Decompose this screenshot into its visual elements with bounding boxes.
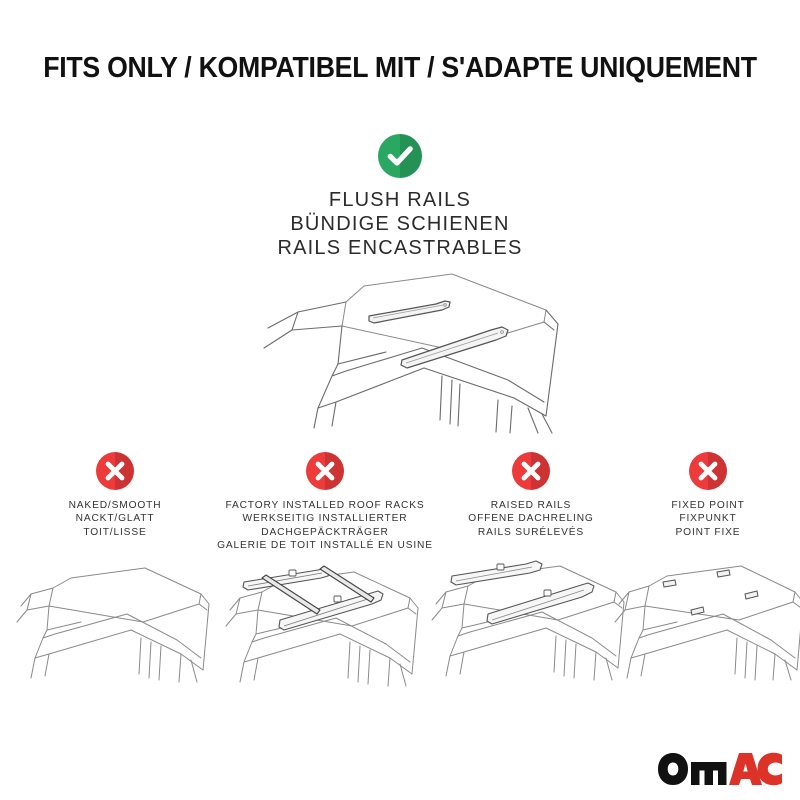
car-roof-raised-rails-illustration	[428, 554, 634, 682]
check-circle-icon	[378, 134, 422, 178]
x-mark-glyph	[306, 452, 344, 490]
car-roof-factory-racks-illustration	[222, 564, 428, 688]
option-label-line-2: NACKT/GLATT	[25, 512, 205, 525]
x-circle-icon	[689, 452, 727, 490]
option-label-line-1: RAISED RAILS	[443, 499, 619, 512]
option-label: FIXED POINT FIXPUNKT POINT FIXE	[623, 499, 793, 539]
fitment-infographic: FITS ONLY / KOMPATIBEL MIT / S'ADAPTE UN…	[0, 0, 800, 800]
car-roof-flush-rails-illustration	[246, 268, 566, 433]
omac-logo: OMAC	[657, 752, 783, 786]
option-label: NAKED/SMOOTH NACKT/GLATT TOIT/LISSE	[25, 499, 205, 539]
incompatible-option-factory-racks: FACTORY INSTALLED ROOF RACKS WERKSEITIG …	[209, 452, 441, 552]
incompatible-option-raised-rails: RAISED RAILS OFFENE DACHRELING RAILS SUR…	[443, 452, 619, 539]
compatible-label-line-1: FLUSH RAILS	[0, 188, 800, 212]
x-circle-icon	[306, 452, 344, 490]
option-label-line-4: GALERIE DE TOIT INSTALLÉ EN USINE	[209, 539, 441, 552]
option-label-line-1: FACTORY INSTALLED ROOF RACKS	[209, 499, 441, 512]
x-mark-glyph	[689, 452, 727, 490]
option-label-line-3: RAILS SURÉLEVÉS	[443, 526, 619, 539]
option-label-line-3: DACHGEPÄCKTRÄGER	[209, 526, 441, 539]
option-label: RAISED RAILS OFFENE DACHRELING RAILS SUR…	[443, 499, 619, 539]
option-label-line-2: FIXPUNKT	[623, 512, 793, 525]
incompatible-option-fixed-point: FIXED POINT FIXPUNKT POINT FIXE	[623, 452, 793, 539]
option-label-line-1: FIXED POINT	[623, 499, 793, 512]
compatible-label-line-2: BÜNDIGE SCHIENEN	[0, 212, 800, 236]
option-label-line-3: TOIT/LISSE	[25, 526, 205, 539]
incompatible-section: NAKED/SMOOTH NACKT/GLATT TOIT/LISSE	[0, 452, 800, 692]
compatible-label-line-3: RAILS ENCASTRABLES	[0, 236, 800, 260]
option-label-line-2: WERKSEITIG INSTALLIERTER	[209, 512, 441, 525]
x-circle-icon	[96, 452, 134, 490]
option-label-line-2: OFFENE DACHRELING	[443, 512, 619, 525]
incompatible-option-naked-smooth: NAKED/SMOOTH NACKT/GLATT TOIT/LISSE	[25, 452, 205, 539]
option-label-line-3: POINT FIXE	[623, 526, 793, 539]
x-circle-icon	[512, 452, 550, 490]
compatible-section: FLUSH RAILS BÜNDIGE SCHIENEN RAILS ENCAS…	[0, 134, 800, 260]
omac-logo-mark: OMAC	[657, 752, 783, 786]
option-label-line-1: NAKED/SMOOTH	[25, 499, 205, 512]
x-mark-glyph	[96, 452, 134, 490]
check-mark-glyph	[378, 134, 422, 178]
car-roof-naked-smooth-illustration	[15, 554, 215, 684]
page-title: FITS ONLY / KOMPATIBEL MIT / S'ADAPTE UN…	[32, 52, 768, 85]
compatible-label: FLUSH RAILS BÜNDIGE SCHIENEN RAILS ENCAS…	[0, 188, 800, 260]
option-label: FACTORY INSTALLED ROOF RACKS WERKSEITIG …	[209, 499, 441, 552]
x-mark-glyph	[512, 452, 550, 490]
car-roof-fixed-point-illustration	[613, 554, 800, 682]
